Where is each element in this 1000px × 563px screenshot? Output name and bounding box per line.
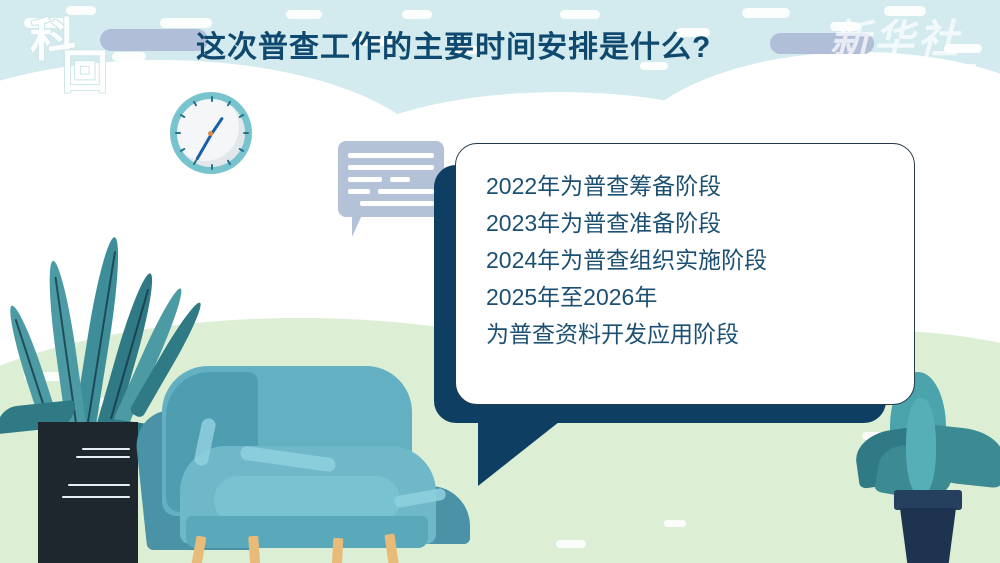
cloud-shape xyxy=(402,10,432,19)
clock-center-pin xyxy=(208,131,213,136)
bubble-text-line xyxy=(348,177,382,182)
brand-logo-char-2: 回 xyxy=(62,52,108,92)
main-speech-bubble: 2022年为普查筹备阶段 2023年为普查准备阶段 2024年为普查组织实施阶段… xyxy=(455,143,915,405)
plant-leaf xyxy=(906,398,936,496)
infographic-slide: 科 回 这次普查工作的主要时间安排是什么? 新华社 XINHUA NEWS xyxy=(0,0,1000,563)
xinhua-watermark-cn: 新华社 xyxy=(810,18,982,62)
bubble-line-3: 2024年为普查组织实施阶段 xyxy=(486,242,894,279)
floor-dash xyxy=(664,520,686,527)
xinhua-watermark-rule xyxy=(816,64,976,67)
cloud-shape xyxy=(208,66,234,74)
main-bubble-tail xyxy=(478,418,564,486)
bubble-line-2: 2023年为普查准备阶段 xyxy=(486,205,894,242)
planter-stripe xyxy=(82,448,130,450)
bubble-text-line xyxy=(348,189,370,194)
bubble-tail xyxy=(352,215,374,237)
bubble-text-line xyxy=(360,201,434,206)
bubble-line-1: 2022年为普查筹备阶段 xyxy=(486,168,894,205)
plant-pot-rim-right xyxy=(894,490,962,510)
secondary-speech-bubble xyxy=(338,141,444,217)
title-pill-left xyxy=(100,29,208,51)
armchair-leg xyxy=(331,538,344,563)
planter-stripe xyxy=(76,456,130,458)
armchair xyxy=(140,366,470,563)
planter-stripe xyxy=(68,484,130,486)
cloud-shape xyxy=(560,10,600,19)
xinhua-watermark-en: XINHUA NEWS xyxy=(810,70,982,90)
bubble-text-line xyxy=(348,153,434,158)
bubble-line-4: 2025年至2026年 xyxy=(486,279,894,316)
clock-tick xyxy=(211,164,213,170)
cloud-shape xyxy=(286,10,322,19)
plant-pot-right xyxy=(900,508,956,563)
planter-box-left xyxy=(38,422,138,563)
floor-dash xyxy=(556,540,586,548)
bubble-line-5: 为普查资料开发应用阶段 xyxy=(486,316,894,353)
page-title: 这次普查工作的主要时间安排是什么? xyxy=(196,22,711,66)
clock-tick xyxy=(243,132,249,134)
bubble-text-line xyxy=(378,189,434,194)
clock-tick xyxy=(211,96,213,102)
clock-icon xyxy=(170,92,252,174)
planter-stripe xyxy=(62,496,130,498)
clock-tick xyxy=(175,132,181,134)
bubble-text-line xyxy=(390,177,410,182)
main-bubble-text: 2022年为普查筹备阶段 2023年为普查准备阶段 2024年为普查组织实施阶段… xyxy=(486,168,894,353)
xinhua-watermark: 新华社 XINHUA NEWS xyxy=(810,18,982,90)
cloud-shape xyxy=(742,8,790,18)
cloud-shape xyxy=(884,6,926,16)
bubble-text-line xyxy=(348,165,434,170)
